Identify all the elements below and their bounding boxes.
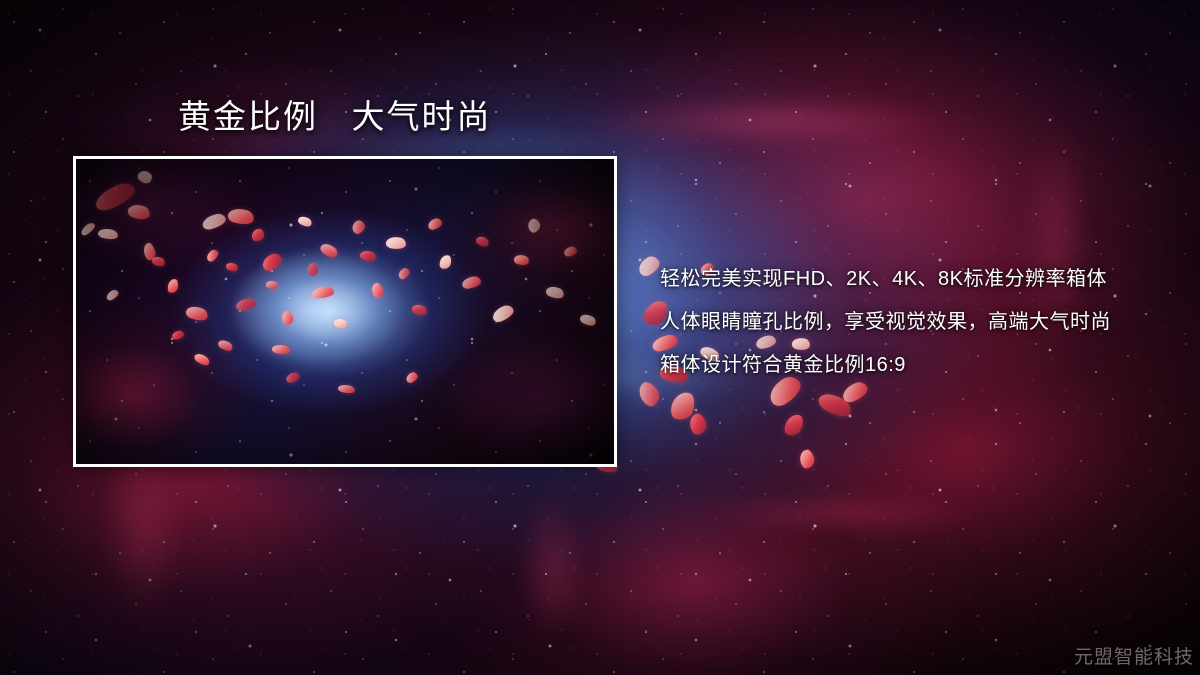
body-copy: 轻松完美实现FHD、2K、4K、8K标准分辨率箱体 人体眼睛瞳孔比例，享受视觉效… <box>660 258 1160 387</box>
petal <box>635 254 662 279</box>
preview-vignette <box>76 159 614 464</box>
page-title: 黄金比例 大气时尚 <box>178 99 492 136</box>
copy-line-1: 轻松完美实现FHD、2K、4K、8K标准分辨率箱体 <box>660 258 1160 301</box>
petal <box>798 448 816 469</box>
golden-ratio-preview-panel <box>73 156 617 467</box>
slide-canvas: 黄金比例 大气时尚 轻松完美实现FHD、2K、4K、8K标准分辨率箱体 人体眼睛… <box>0 0 1200 675</box>
copy-line-3: 箱体设计符合黄金比例16:9 <box>660 344 1160 387</box>
copy-line-2: 人体眼睛瞳孔比例，享受视觉效果，高端大气时尚 <box>660 301 1160 344</box>
watermark: 元盟智能科技 <box>1074 642 1194 669</box>
petal <box>782 412 805 438</box>
